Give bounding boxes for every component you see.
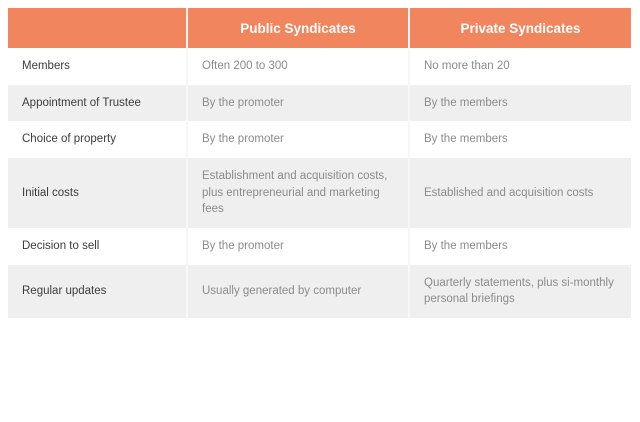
cell-private-syndicates: No more than 20: [409, 48, 631, 85]
syndicate-comparison-table: Public Syndicates Private Syndicates Mem…: [8, 8, 631, 318]
table-row: Choice of propertyBy the promoterBy the …: [8, 121, 631, 158]
cell-public-syndicates: By the promoter: [187, 228, 409, 265]
cell-public-syndicates: By the promoter: [187, 121, 409, 158]
cell-public-syndicates: By the promoter: [187, 85, 409, 122]
row-label-cell: Regular updates: [8, 265, 187, 318]
comparison-table-container: Public Syndicates Private Syndicates Mem…: [8, 8, 631, 318]
table-header: Public Syndicates Private Syndicates: [8, 8, 631, 48]
table-row: MembersOften 200 to 300No more than 20: [8, 48, 631, 85]
cell-public-syndicates: Establishment and acquisition costs, plu…: [187, 158, 409, 228]
table-row: Regular updatesUsually generated by comp…: [8, 265, 631, 318]
table-header-row: Public Syndicates Private Syndicates: [8, 8, 631, 48]
cell-private-syndicates: By the members: [409, 228, 631, 265]
row-label-cell: Decision to sell: [8, 228, 187, 265]
cell-public-syndicates: Usually generated by computer: [187, 265, 409, 318]
table-body: MembersOften 200 to 300No more than 20Ap…: [8, 48, 631, 318]
column-header-blank: [8, 8, 187, 48]
row-label-cell: Members: [8, 48, 187, 85]
cell-private-syndicates: By the members: [409, 121, 631, 158]
row-label-cell: Choice of property: [8, 121, 187, 158]
row-label-cell: Initial costs: [8, 158, 187, 228]
table-row: Initial costsEstablishment and acquisiti…: [8, 158, 631, 228]
cell-private-syndicates: Quarterly statements, plus si-monthly pe…: [409, 265, 631, 318]
cell-private-syndicates: By the members: [409, 85, 631, 122]
table-row: Decision to sellBy the promoterBy the me…: [8, 228, 631, 265]
table-row: Appointment of TrusteeBy the promoterBy …: [8, 85, 631, 122]
column-header-private-syndicates: Private Syndicates: [409, 8, 631, 48]
cell-private-syndicates: Established and acquisition costs: [409, 158, 631, 228]
row-label-cell: Appointment of Trustee: [8, 85, 187, 122]
column-header-public-syndicates: Public Syndicates: [187, 8, 409, 48]
cell-public-syndicates: Often 200 to 300: [187, 48, 409, 85]
